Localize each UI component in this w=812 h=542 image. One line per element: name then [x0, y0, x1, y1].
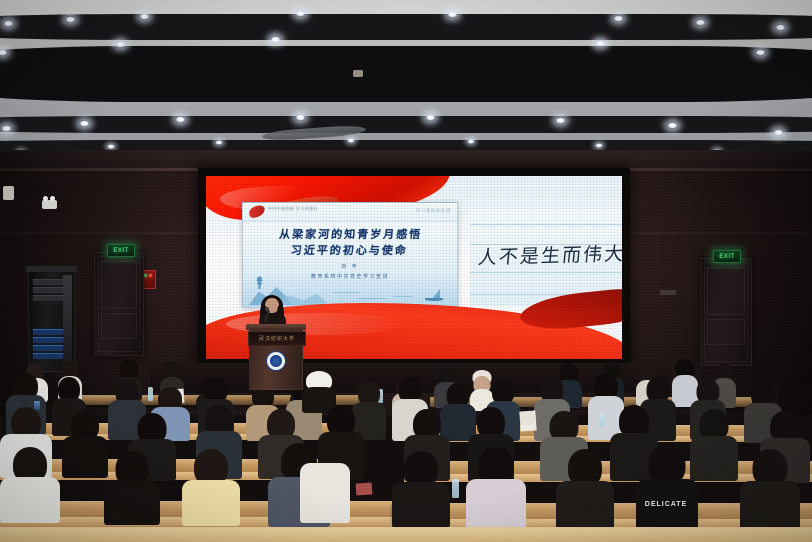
exit-door-left[interactable]	[94, 252, 144, 356]
podium: 武汉纺织大学	[249, 328, 303, 390]
emergency-light	[42, 200, 57, 209]
audience-member	[302, 371, 336, 407]
slide-title-line-2: 习近平的初心与使命	[242, 243, 457, 259]
handwriting-text: 人不是生而伟大	[477, 244, 622, 268]
audience-member	[104, 451, 160, 519]
audience-member	[392, 451, 450, 521]
water-bottle	[600, 413, 605, 427]
exit-sign-icon: EXIT	[713, 250, 741, 263]
exit-sign-icon: EXIT	[107, 244, 135, 257]
slide-title: 从梁家河的知青岁月感悟 习近平的初心与使命	[242, 227, 458, 259]
podium-nameplate: 武汉纺织大学	[248, 331, 306, 346]
ink-wave	[357, 298, 387, 299]
slide-organization: 中共中央党校 学习时报社	[268, 206, 318, 211]
audience-member	[182, 449, 240, 519]
audience-member	[0, 447, 60, 517]
jacket-text: DELICATE	[645, 501, 687, 508]
audience-member	[740, 449, 800, 525]
ceiling-band	[0, 46, 812, 102]
slide-top-note: 学习贯彻新思想	[416, 208, 451, 214]
audience-member	[300, 463, 350, 523]
audience-member	[556, 449, 614, 523]
audience-area: DELICATE	[0, 355, 812, 542]
ink-wave	[333, 292, 359, 293]
pencil-case	[356, 482, 373, 495]
wall-speaker	[3, 186, 14, 200]
exit-sign-label: EXIT	[719, 254, 734, 260]
water-bottle	[452, 479, 459, 498]
smoke-detector-icon	[353, 70, 363, 77]
audience-member	[636, 445, 698, 525]
audience-member	[466, 447, 526, 523]
wall-plate	[660, 290, 676, 295]
exit-sign-label: EXIT	[113, 248, 128, 254]
presentation-slide: 中共中央党校 学习时报社 学习贯彻新思想 从梁家河的知青岁月感悟 习近平的初心与…	[242, 202, 458, 308]
microphone-icon	[265, 307, 269, 311]
slide-author: 刘 丰	[243, 263, 457, 270]
ceiling-band	[0, 116, 812, 133]
ink-wave	[393, 296, 413, 297]
ceiling-band	[0, 14, 812, 40]
lecture-hall-photo: EXIT EXIT 中共中央党校 学习时报社 学习贯彻新思想 从梁家河的知青岁月…	[0, 0, 812, 542]
audience-member	[62, 411, 108, 473]
exit-door-right[interactable]	[700, 258, 752, 366]
podium-nameplate-text: 武汉纺织大学	[259, 335, 295, 342]
slide-title-line-1: 从梁家河的知青岁月感悟	[243, 227, 458, 243]
paper-handout	[519, 410, 536, 431]
university-emblem	[266, 351, 286, 371]
lecture-bench-front	[0, 527, 812, 542]
sailboat-icon	[425, 289, 443, 301]
